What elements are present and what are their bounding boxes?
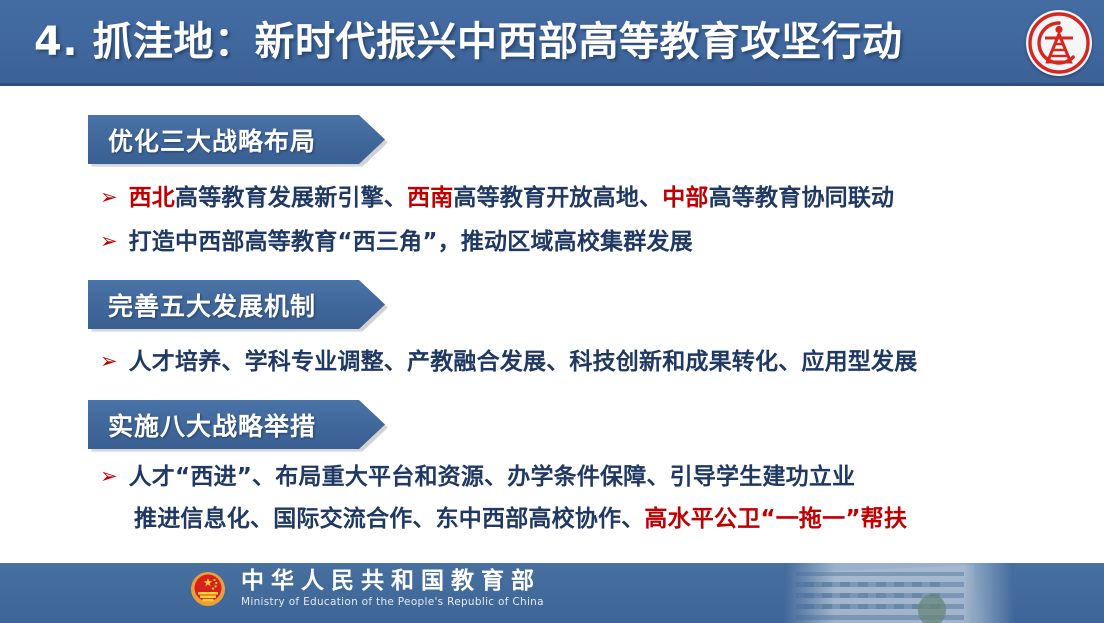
footer-organization-en: Ministry of Education of the People's Re… [241,596,544,609]
slide-footer-band: 中华人民共和国教育部 Ministry of Education of the … [0,563,1104,623]
china-national-emblem-icon [188,569,228,609]
footer-brand: 中华人民共和国教育部 Ministry of Education of the … [188,569,544,609]
ministry-building-photo [784,563,1014,623]
bullet-arrow-icon: ➢ [100,462,118,490]
bullet-arrow-icon: ➢ [100,227,118,255]
tower-emblem-icon [1028,12,1090,74]
bullet-text-3-2: 推进信息化、国际交流合作、东中西部高校协作、高水平公卫“一拖一”帮扶 [134,504,907,535]
slide-body: 优化三大战略布局 ➢ 西北高等教育发展新引擎、西南高等教育开放高地、中部高等教育… [0,86,1104,559]
bullet-arrow-icon: ➢ [100,347,118,375]
bullet-seg-1-1-4: 高等教育开放高地、 [453,185,662,211]
bullet-row-2-1: ➢ 人才培养、学科专业调整、产教融合发展、科技创新和成果转化、应用型发展 [100,347,917,378]
bullet-text-1-1: 西北高等教育发展新引擎、西南高等教育开放高地、中部高等教育协同联动 [129,183,895,214]
moe-tower-emblem-logo [1026,10,1092,76]
section-banner-label-1: 优化三大战略布局 [108,122,316,158]
bullet-row-3-1: ➢ 人才“西进”、布局重大平台和资源、办学条件保障、引导学生建功立业 [100,462,855,493]
slide-header-band: 4. 抓洼地：新时代振兴中西部高等教育攻坚行动 [0,0,1104,86]
bullet-arrow-icon: ➢ [100,183,118,211]
bullet-row-1-1: ➢ 西北高等教育发展新引擎、西南高等教育开放高地、中部高等教育协同联动 [100,183,894,214]
highlight-xibei: 西北 [129,185,175,211]
section-banner-2: 完善五大发展机制 [88,280,385,329]
section-banner-1: 优化三大战略布局 [88,115,385,164]
bullet-text-2-1: 人才培养、学科专业调整、产教融合发展、科技创新和成果转化、应用型发展 [129,347,918,378]
footer-org-text: 中华人民共和国教育部 Ministry of Education of the … [241,569,544,608]
bullet-seg-1-1-2: 高等教育发展新引擎、 [175,185,407,211]
building-photo-illustration [784,563,1014,623]
slide-title: 4. 抓洼地：新时代振兴中西部高等教育攻坚行动 [34,11,1014,73]
cont-seg-plain: 推进信息化、国际交流合作、东中西部高校协作、 [134,506,644,532]
section-banner-label-2: 完善五大发展机制 [108,287,316,323]
bullet-text-1-2: 打造中西部高等教育“西三角”，推动区域高校集群发展 [129,227,693,258]
footer-organization-cn: 中华人民共和国教育部 [241,569,544,594]
bullet-seg-1-1-6: 高等教育协同联动 [709,185,895,211]
highlight-zhongbu: 中部 [662,185,708,211]
bullet-row-1-2: ➢ 打造中西部高等教育“西三角”，推动区域高校集群发展 [100,227,693,258]
presentation-slide: 4. 抓洼地：新时代振兴中西部高等教育攻坚行动 优化三大战略布局 ➢ 西北高等教… [0,0,1104,623]
highlight-xinan: 西南 [407,185,453,211]
section-banner-label-3: 实施八大战略举措 [108,407,316,443]
bullet-text-3-1: 人才“西进”、布局重大平台和资源、办学条件保障、引导学生建功立业 [129,462,856,493]
highlight-gongwei-bangfu: 高水平公卫“一拖一”帮扶 [644,506,907,532]
section-banner-3: 实施八大战略举措 [88,400,385,449]
